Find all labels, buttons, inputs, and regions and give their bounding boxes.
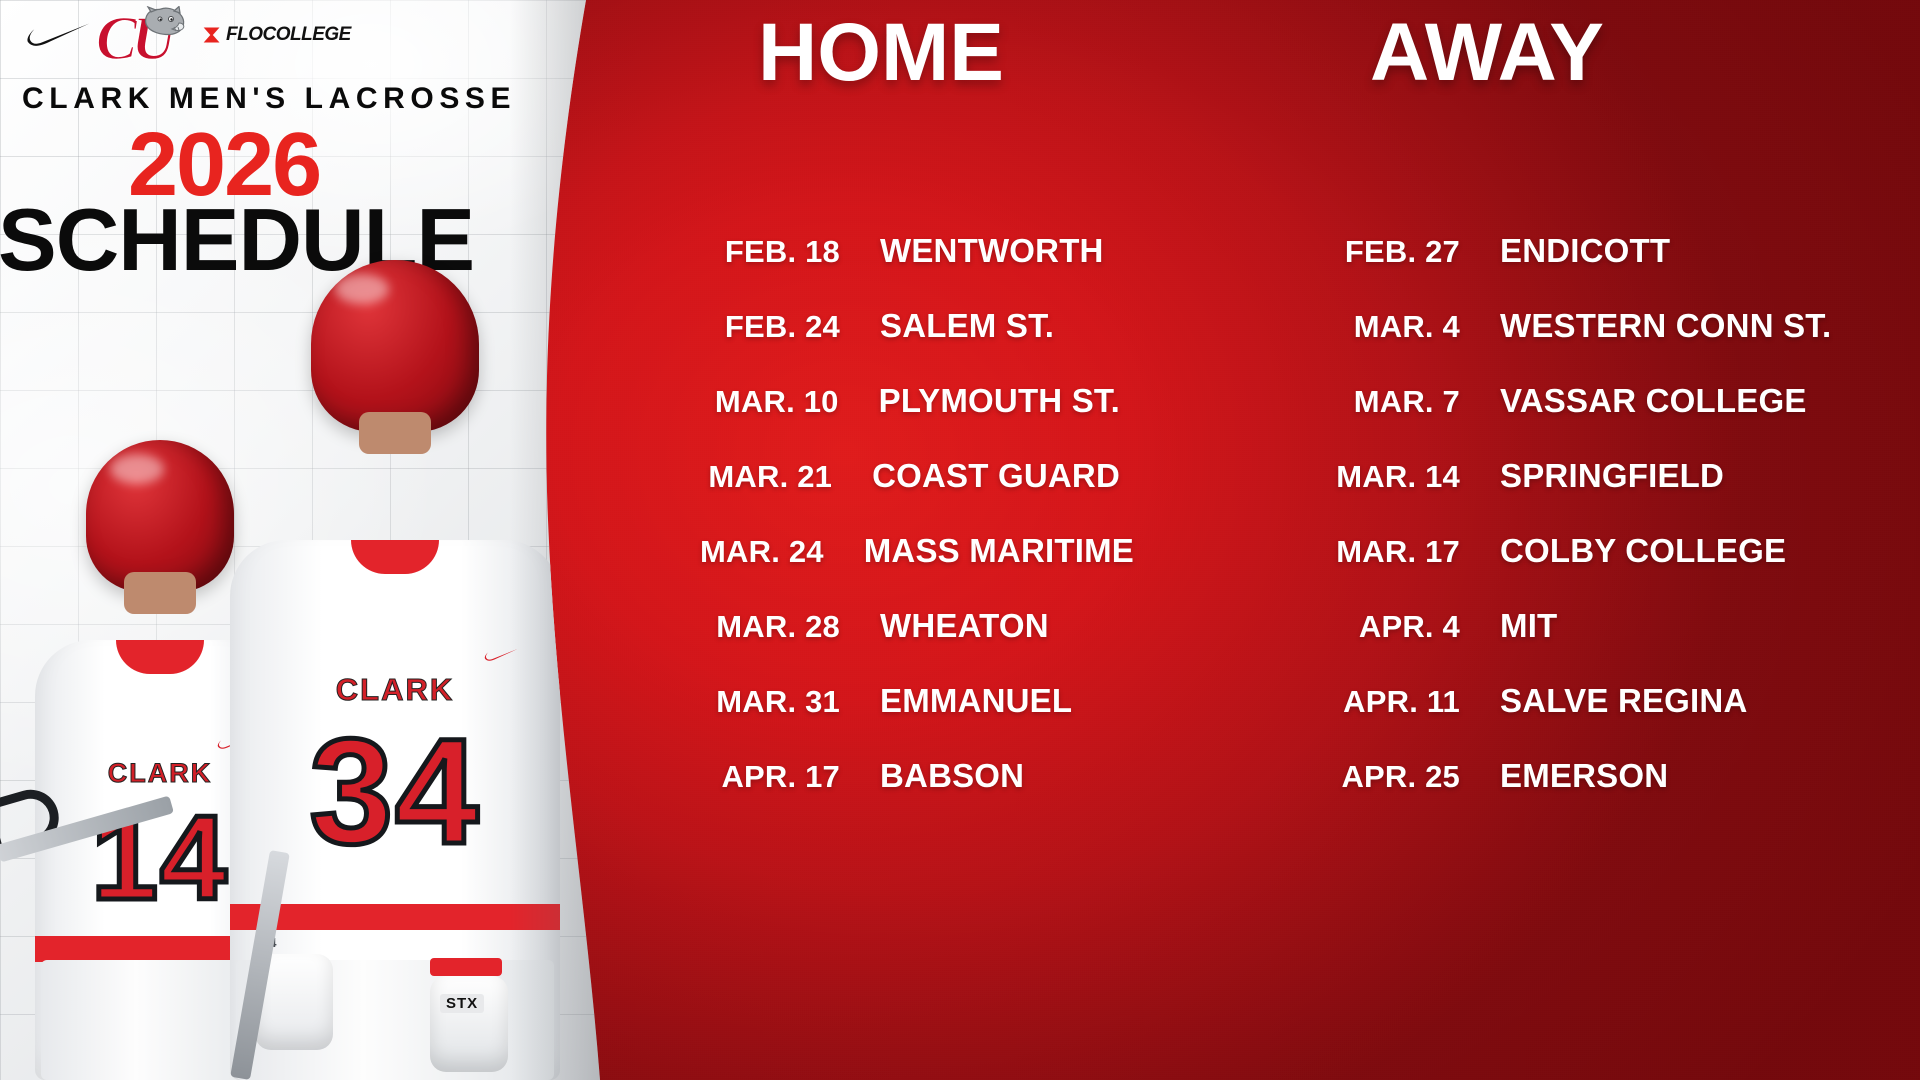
helmet-shine (110, 454, 164, 484)
column-heading-home: HOME (758, 12, 1004, 94)
schedule-row: APR. 25EMERSON (1300, 757, 1920, 832)
game-opponent: EMERSON (1500, 757, 1668, 795)
game-date: MAR. 31 (700, 684, 880, 720)
game-date: MAR. 24 (700, 534, 864, 570)
game-date: MAR. 7 (1300, 384, 1500, 420)
schedule-row: MAR. 14SPRINGFIELD (1300, 457, 1920, 532)
game-opponent: EMMANUEL (880, 682, 1072, 720)
column-heading-away: AWAY (1370, 12, 1604, 94)
game-opponent: MASS MARITIME (864, 532, 1134, 570)
jersey-collar (116, 640, 204, 674)
player-34-helmet (311, 260, 479, 432)
schedule-row: MAR. 28WHEATON (700, 607, 1120, 682)
schedule-list-away: FEB. 27ENDICOTTMAR. 4WESTERN CONN ST.MAR… (1300, 232, 1920, 832)
flocollege-wordmark: FLOCOLLEGE (226, 24, 351, 46)
schedule-row: MAR. 4WESTERN CONN ST. (1300, 307, 1920, 382)
player-14-helmet (86, 440, 234, 592)
schedule-row: MAR. 31EMMANUEL (700, 682, 1120, 757)
player-34-wristband (430, 958, 502, 976)
game-date: FEB. 27 (1300, 234, 1500, 270)
schedule-row: MAR. 21COAST GUARD (700, 457, 1120, 532)
game-date: MAR. 17 (1300, 534, 1500, 570)
player-34-wordmark: CLARK (336, 672, 455, 708)
game-opponent: ENDICOTT (1500, 232, 1670, 270)
game-date: MAR. 28 (700, 609, 880, 645)
game-opponent: BABSON (880, 757, 1024, 795)
helmet-shine (335, 274, 389, 304)
schedule-row: MAR. 17COLBY COLLEGE (1300, 532, 1920, 607)
game-date: FEB. 18 (700, 234, 880, 270)
schedule-row: APR. 17BABSON (700, 757, 1120, 832)
game-date: FEB. 24 (700, 309, 880, 345)
game-opponent: SALEM ST. (880, 307, 1054, 345)
game-date: APR. 25 (1300, 759, 1500, 795)
game-opponent: VASSAR COLLEGE (1500, 382, 1807, 420)
team-name-title: CLARK MEN'S LACROSSE (22, 82, 562, 116)
flocollege-logo: FLOCOLLEGE (202, 24, 351, 46)
game-opponent: WENTWORTH (880, 232, 1104, 270)
schedule-list-home: FEB. 18WENTWORTHFEB. 24SALEM ST.MAR. 10P… (700, 232, 1120, 832)
game-opponent: COAST GUARD (872, 457, 1120, 495)
cougar-head-icon (138, 6, 190, 46)
game-opponent: SALVE REGINA (1500, 682, 1747, 720)
game-date: APR. 11 (1300, 684, 1500, 720)
schedule-row: FEB. 24SALEM ST. (700, 307, 1120, 382)
logo-row: CU FLOCOLLEGE (14, 4, 314, 76)
player-14-wordmark: CLARK (108, 758, 213, 789)
game-opponent: MIT (1500, 607, 1557, 645)
player-34-number: 34 (310, 716, 481, 866)
left-branding-panel: CU FLOCOLLEGE (0, 0, 600, 1080)
game-opponent: PLYMOUTH ST. (879, 382, 1120, 420)
cu-cougar-logo: CU (94, 4, 190, 80)
game-opponent: SPRINGFIELD (1500, 457, 1724, 495)
game-date: MAR. 10 (700, 384, 879, 420)
game-date: MAR. 21 (700, 459, 872, 495)
player-34-neck (359, 412, 431, 454)
game-date: MAR. 4 (1300, 309, 1500, 345)
player-14-neck (124, 572, 196, 614)
game-opponent: WHEATON (880, 607, 1049, 645)
game-opponent: WESTERN CONN ST. (1500, 307, 1831, 345)
game-date: APR. 17 (700, 759, 880, 795)
flo-chevron-icon (202, 25, 222, 45)
schedule-row: FEB. 18WENTWORTH (700, 232, 1120, 307)
schedule-row: APR. 11SALVE REGINA (1300, 682, 1920, 757)
game-date: APR. 4 (1300, 609, 1500, 645)
nike-swoosh-icon (26, 22, 90, 48)
schedule-row: FEB. 27ENDICOTT (1300, 232, 1920, 307)
schedule-row: MAR. 10PLYMOUTH ST. (700, 382, 1120, 457)
schedule-row: APR. 4MIT (1300, 607, 1920, 682)
game-date: MAR. 14 (1300, 459, 1500, 495)
jersey-collar (351, 540, 439, 574)
player-34-glove: STX (430, 976, 508, 1072)
schedule-row: MAR. 24MASS MARITIME (700, 532, 1120, 607)
schedule-poster: CU FLOCOLLEGE (0, 0, 1920, 1080)
game-opponent: COLBY COLLEGE (1500, 532, 1786, 570)
schedule-row: MAR. 7VASSAR COLLEGE (1300, 382, 1920, 457)
glove-brand-label: STX (440, 994, 484, 1013)
